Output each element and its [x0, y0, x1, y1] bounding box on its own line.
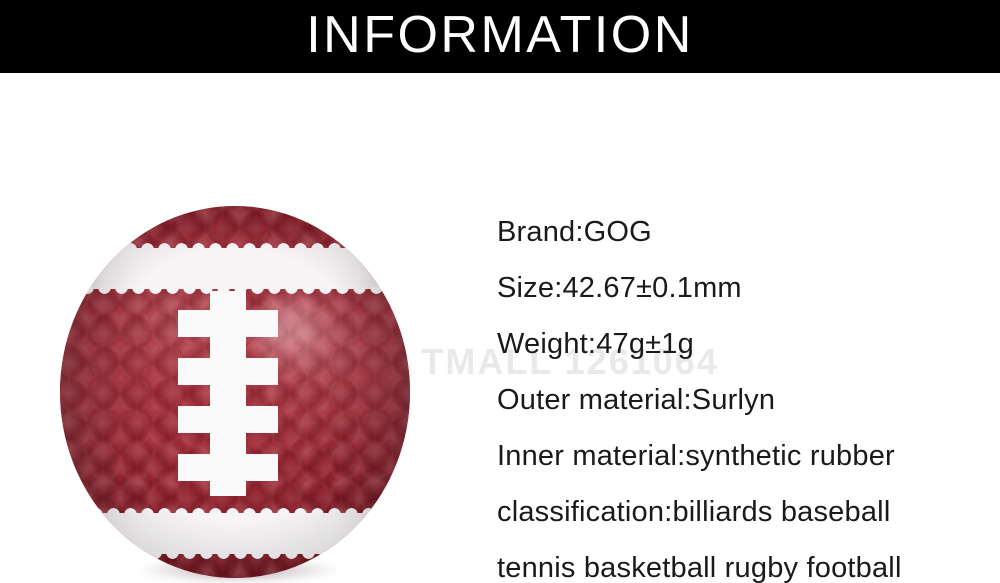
page-title: INFORMATION	[0, 0, 1000, 73]
spec-line-outer-material: Outer material:Surlyn	[497, 372, 977, 428]
football-lacing-mark	[60, 206, 410, 578]
header-bar: INFORMATION	[0, 0, 1000, 73]
spec-line-brand: Brand:GOG	[497, 204, 977, 260]
spec-line-classification: classification:billiards baseball	[497, 484, 977, 540]
specification-list: Brand:GOG Size:42.67±0.1mm Weight:47g±1g…	[497, 204, 977, 583]
spec-line-weight: Weight:47g±1g	[497, 316, 977, 372]
golf-ball	[60, 206, 410, 578]
lacing-shading	[60, 206, 410, 578]
product-information-page: INFORMATION BAL TMALL 1261064	[0, 0, 1000, 583]
spec-line-size: Size:42.67±0.1mm	[497, 260, 977, 316]
spec-line-inner-material: Inner material:synthetic rubber	[497, 428, 977, 484]
product-image	[60, 206, 410, 583]
content-area: BAL TMALL 1261064	[0, 73, 1000, 583]
spec-line-classification-continued: tennis basketball rugby football	[497, 540, 977, 583]
